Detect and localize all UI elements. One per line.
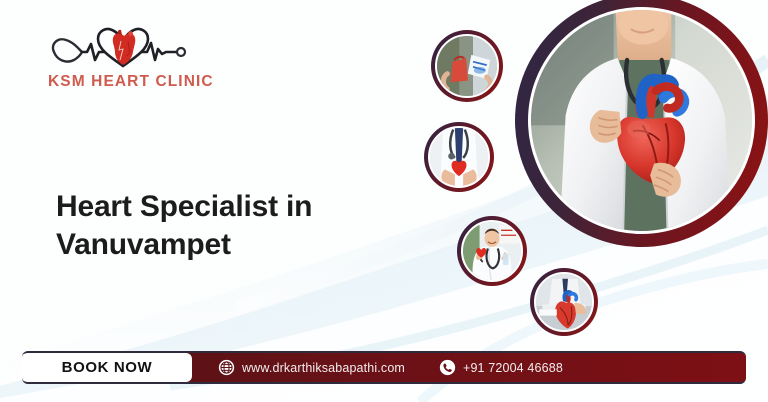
clinic-hero-banner: KSM HEART CLINIC Heart Specialist in Van… [0,0,768,402]
doctor-with-medical-supplies-photo [437,36,497,96]
contact-footer-bar: BOOK NOW www.drkarthiksabapathi.com +91 … [22,351,746,384]
book-now-button[interactable]: BOOK NOW [22,353,192,382]
globe-icon [218,359,235,376]
doctor-holding-heart-model-photo [531,10,752,231]
clinic-name: KSM HEART CLINIC [48,73,198,91]
anatomical-heart-model-on-desk-photo [536,274,592,330]
headline-line-2: Vanuvampet [56,228,231,261]
main-hero-image [515,0,768,247]
phone-number: +91 72004 46688 [463,361,563,375]
thumb-circle-4 [530,268,598,336]
thumb-circle-3 [457,216,527,286]
clinic-logo: KSM HEART CLINIC [48,22,198,91]
phone-icon [439,359,456,376]
smiling-doctor-with-heart-photo [463,222,521,280]
doctor-holding-red-heart-photo [430,128,488,186]
headline-line-1: Heart Specialist in [56,190,312,223]
phone-contact[interactable]: +91 72004 46688 [439,359,563,376]
heart-ecg-stethoscope-logo-icon [48,22,198,72]
thumb-circle-2 [424,122,494,192]
website-url: www.drkarthiksabapathi.com [242,361,405,375]
page-title: Heart Specialist in Vanuvampet [56,188,312,265]
website-contact[interactable]: www.drkarthiksabapathi.com [218,359,405,376]
thumb-circle-1 [431,30,503,102]
